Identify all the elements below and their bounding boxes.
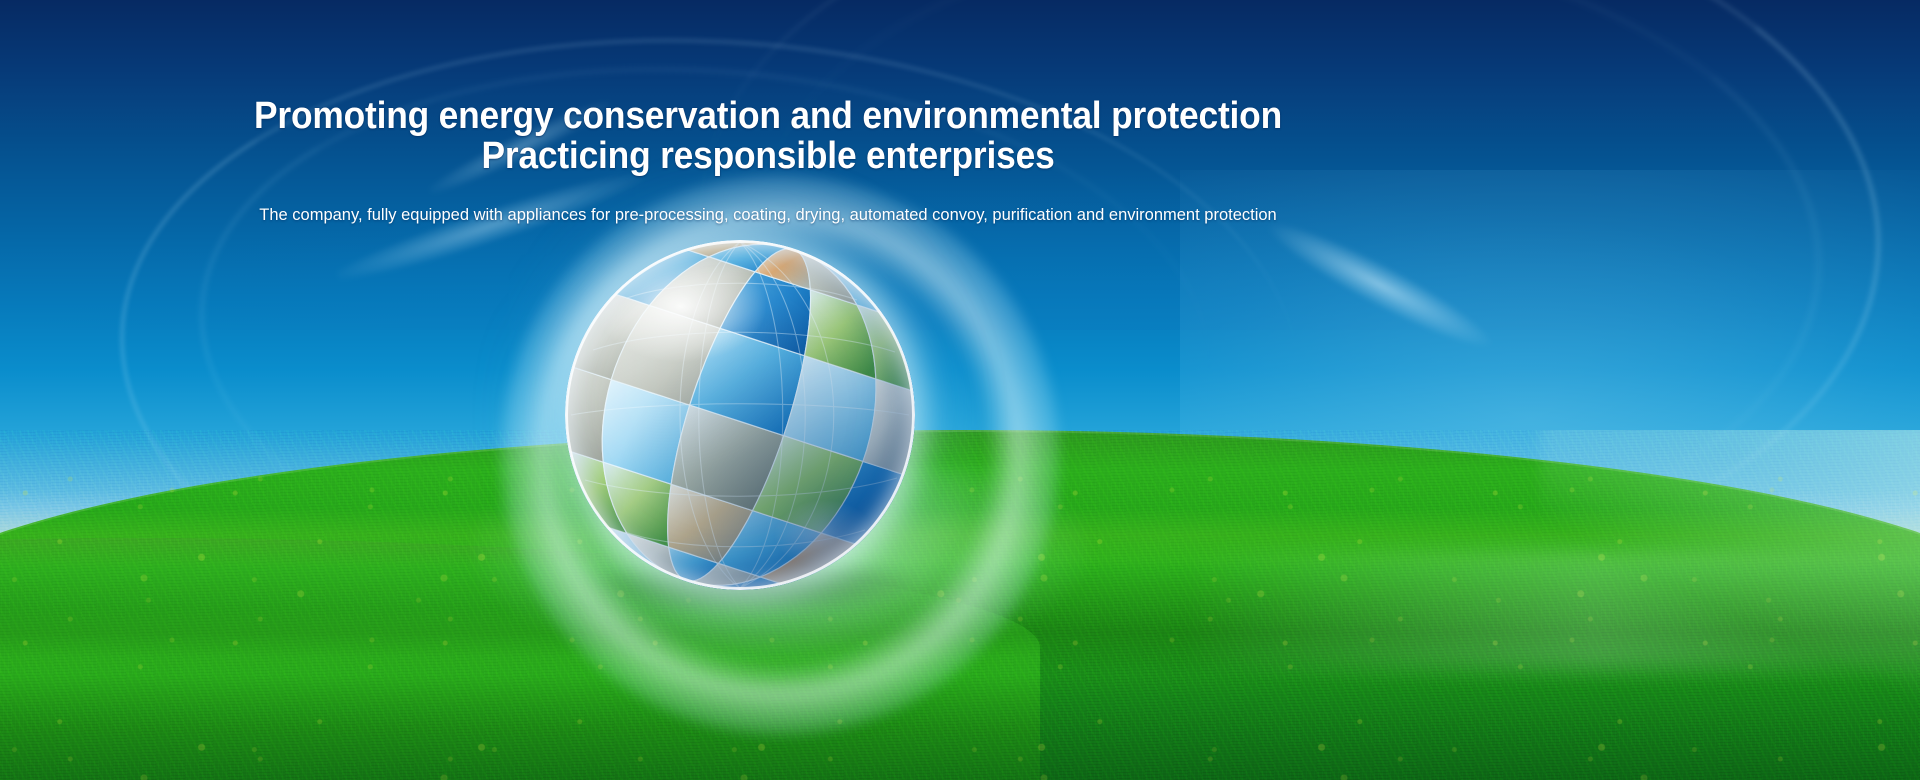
sky-vignette [0,0,1920,330]
grass-shading [0,430,1920,780]
hero-banner: Promoting energy conservation and enviro… [0,0,1920,780]
globe-tile-mosaic [565,240,915,590]
photo-mosaic-globe [565,240,915,590]
grass-field [0,430,1920,780]
